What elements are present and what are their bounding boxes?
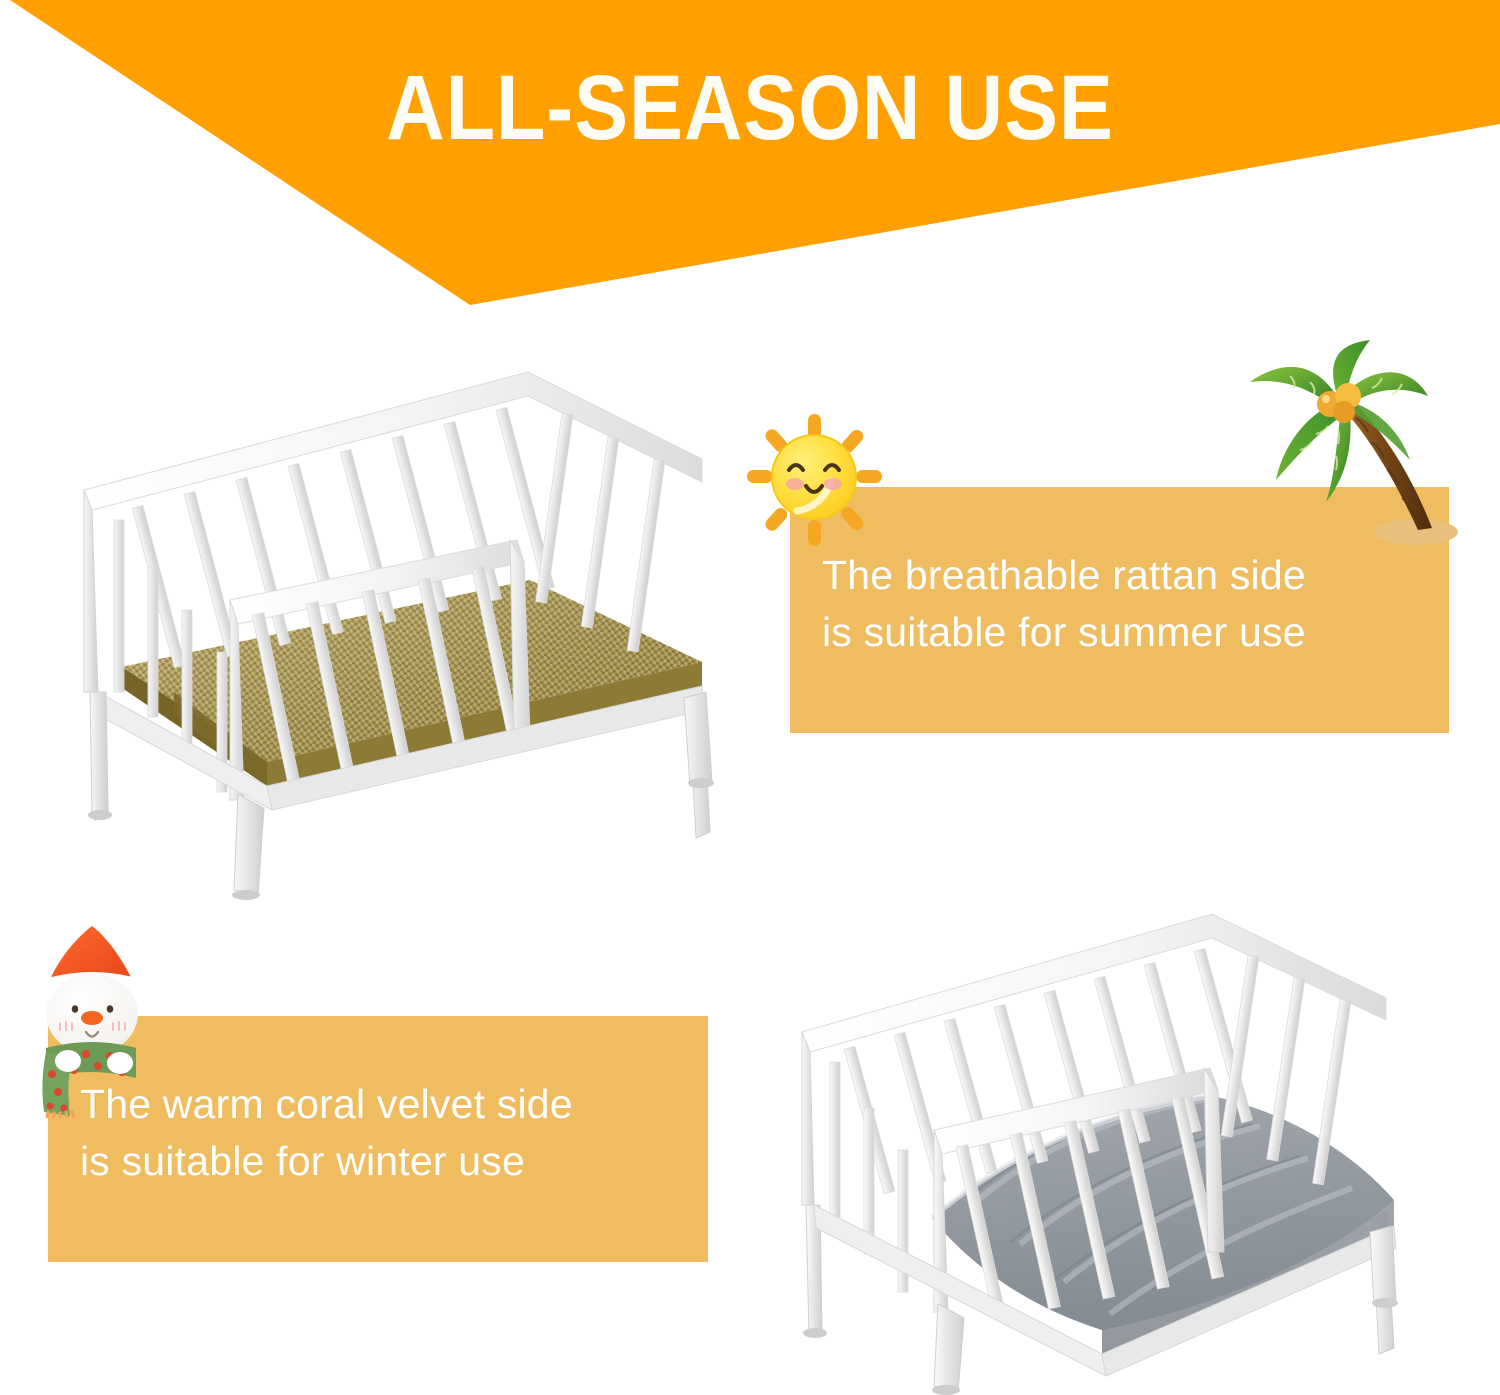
- product-image-rattan-bed: [62, 362, 744, 902]
- snowman-eye-left: [72, 1005, 79, 1013]
- page-title: ALL-SEASON USE: [90, 62, 1410, 154]
- palm-tree-icon: [1232, 338, 1464, 556]
- sun-cheek-left: [786, 478, 804, 490]
- snowman-eye-right: [107, 1005, 114, 1013]
- snowman-icon: [24, 922, 160, 1118]
- sun-cheek-right: [824, 478, 842, 490]
- sun-icon: [744, 410, 884, 550]
- snowman-hand-left: [55, 1050, 81, 1072]
- infographic-canvas: ALL-SEASON USE: [0, 0, 1500, 1395]
- product-image-velvet-bed: [782, 900, 1484, 1395]
- snowman-nose: [81, 1011, 103, 1025]
- callout-summer-text: The breathable rattan side is suitable f…: [822, 547, 1306, 660]
- snowman-hand-right: [107, 1052, 133, 1074]
- santa-hat: [50, 926, 132, 980]
